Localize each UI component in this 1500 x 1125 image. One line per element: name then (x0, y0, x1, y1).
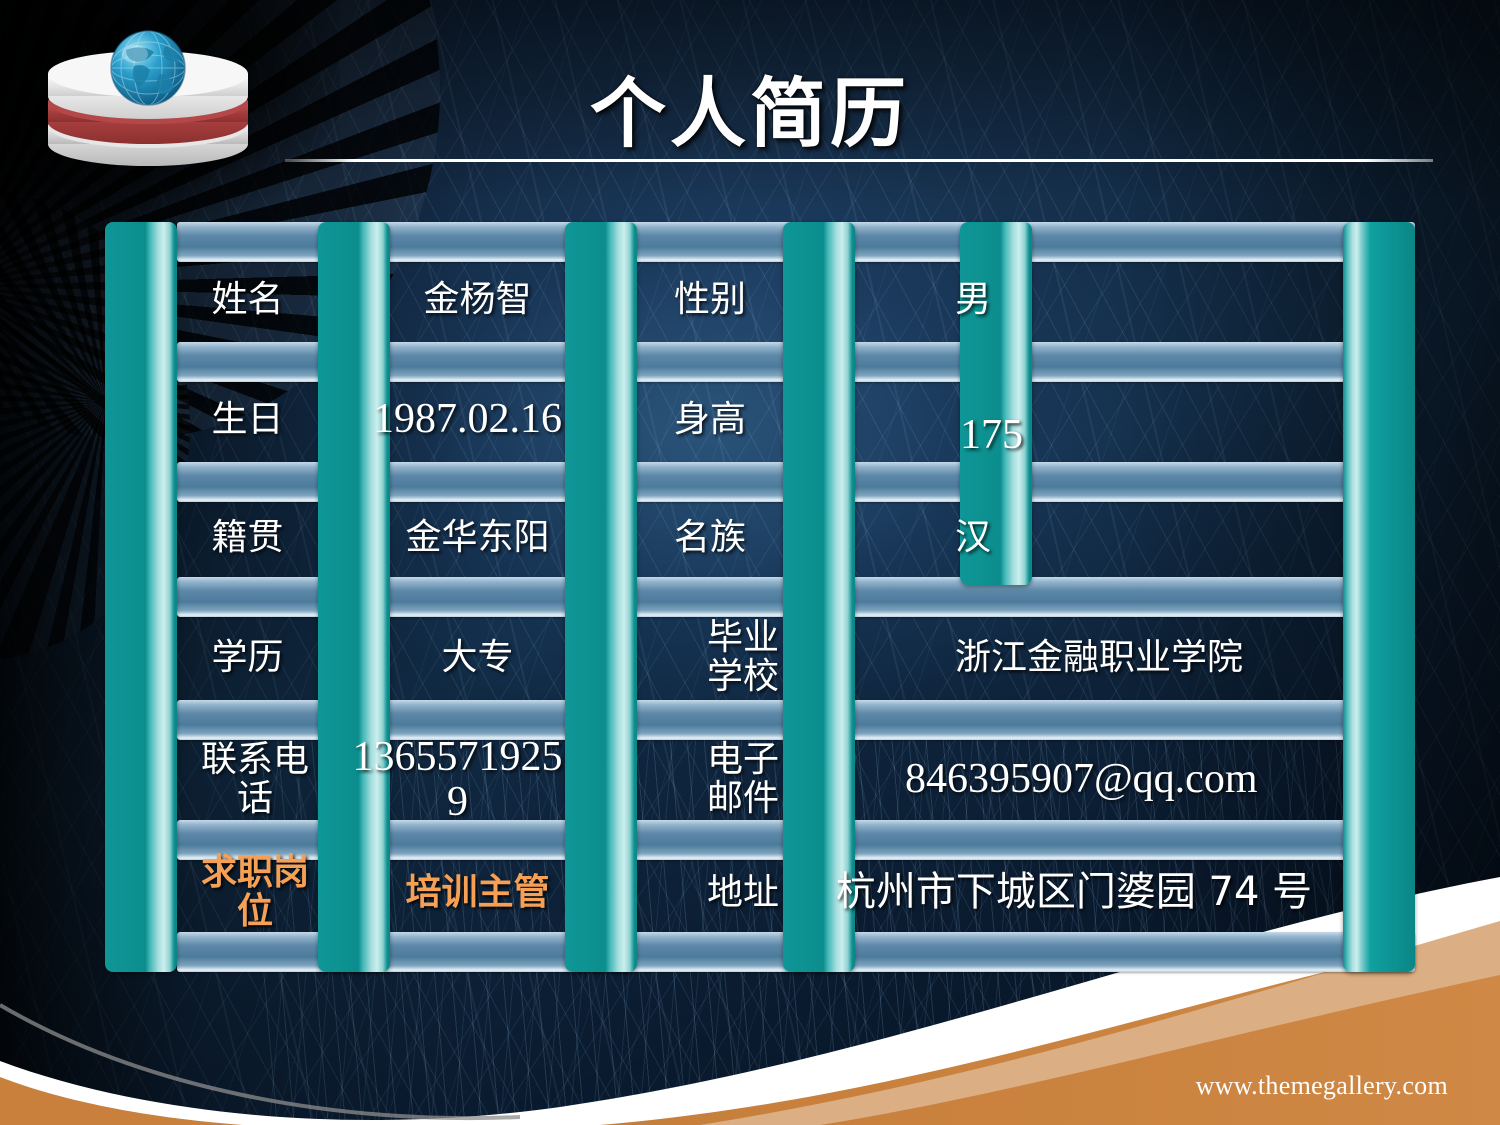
field-value: 13655719259 (350, 730, 565, 830)
slide-title: 个人简历 (0, 52, 1500, 162)
field-value: 汉 (945, 498, 1065, 578)
field-value: 杭州市下城区门婆园 74 号 (805, 850, 1343, 936)
field-label: 性别 (637, 258, 783, 342)
field-value-highlight: 培训主管 (390, 850, 565, 936)
field-value: 男 (945, 258, 1065, 342)
field-value: 1987.02.16 (373, 372, 569, 468)
field-label: 籍贯 (177, 498, 318, 578)
field-value: 浙江金融职业学院 (855, 615, 1343, 701)
field-value: 175 (950, 394, 1090, 478)
field-value: 金杨智 (390, 258, 565, 342)
field-label: 身高 (637, 378, 783, 462)
field-label: 电子邮件 (703, 734, 783, 826)
field-label: 名族 (637, 498, 783, 578)
field-label-highlight: 求职岗位 (200, 850, 310, 936)
column-divider-bar-2 (565, 222, 637, 972)
column-divider-bar-1 (318, 222, 390, 972)
field-label: 联系电话 (200, 734, 310, 826)
field-label: 姓名 (177, 258, 318, 342)
column-divider-bar-left-edge (105, 222, 177, 972)
title-underline-rule (285, 159, 1433, 162)
field-value: 金华东阳 (390, 498, 565, 578)
slide-canvas: 个人简历 姓名 金杨智 性别 男 生日 1987.02.16 身高 175 籍贯… (0, 0, 1500, 1125)
field-value: 大专 (390, 615, 565, 701)
field-label: 毕业学校 (703, 610, 783, 706)
resume-table: 姓名 金杨智 性别 男 生日 1987.02.16 身高 175 籍贯 金华东阳… (105, 222, 1415, 972)
field-value: 846395907@qq.com (905, 730, 1305, 830)
field-label: 生日 (177, 378, 318, 462)
column-divider-bar-right-edge (1343, 222, 1415, 972)
footer-website-url[interactable]: www.themegallery.com (1196, 1071, 1448, 1101)
field-label: 学历 (177, 615, 318, 701)
field-label: 地址 (703, 850, 783, 936)
